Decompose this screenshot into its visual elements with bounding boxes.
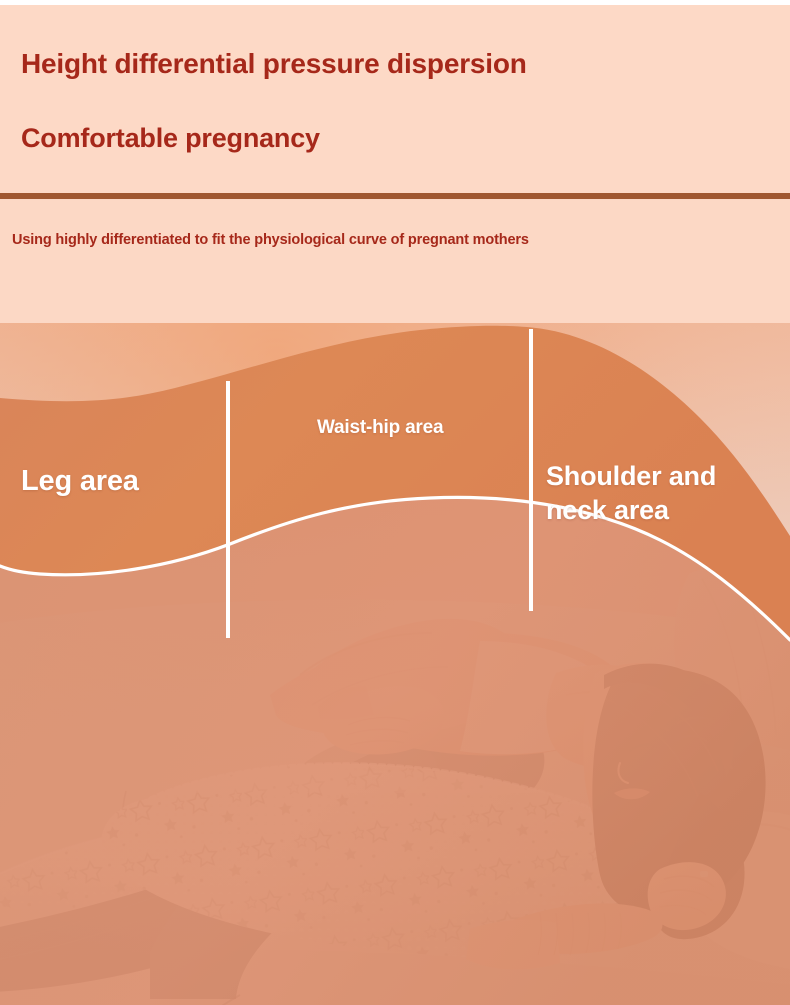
zone-label-shoulder-neck-area: Shoulder and neck area — [546, 459, 776, 527]
subtitle-band — [0, 199, 790, 323]
description-text: Using highly differentiated to fit the p… — [12, 232, 529, 248]
product-feature-infographic: Leg area Waist-hip area Shoulder and nec… — [0, 0, 790, 1005]
header-band — [0, 5, 790, 193]
zone-label-leg-area: Leg area — [21, 465, 139, 498]
page-subtitle-heading: Comfortable pregnancy — [21, 123, 320, 154]
page-title: Height differential pressure dispersion — [21, 48, 527, 80]
zone-label-waist-hip-area: Waist-hip area — [317, 417, 443, 439]
